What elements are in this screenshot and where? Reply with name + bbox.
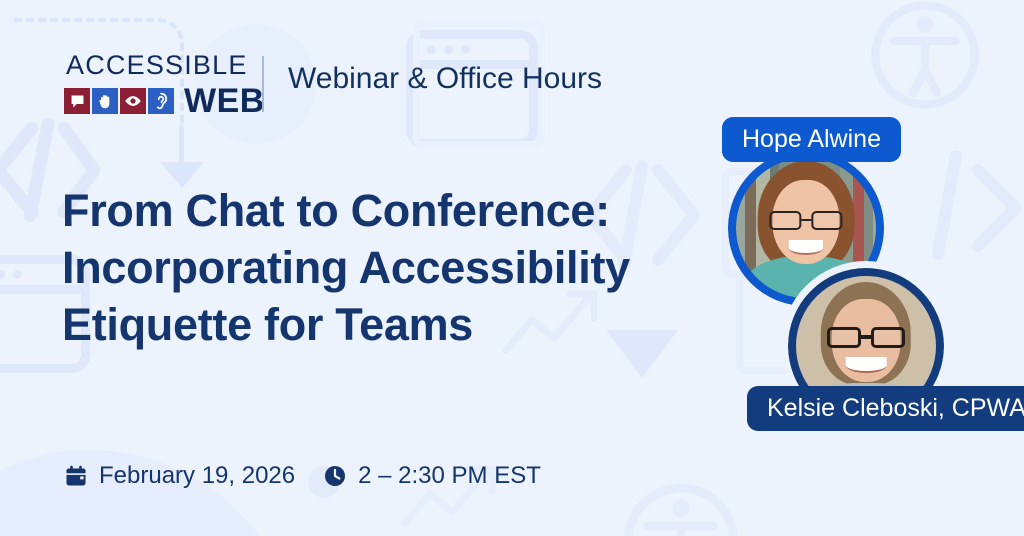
webinar-promo-banner: ACCESSIBLE (0, 0, 1024, 536)
speaker-name-badge-hope: Hope Alwine (722, 117, 901, 162)
speaker-group: Hope Alwine Kelsie Cleboski, CPWA (0, 0, 1024, 536)
speaker-name-badge-kelsie: Kelsie Cleboski, CPWA (747, 386, 1024, 431)
